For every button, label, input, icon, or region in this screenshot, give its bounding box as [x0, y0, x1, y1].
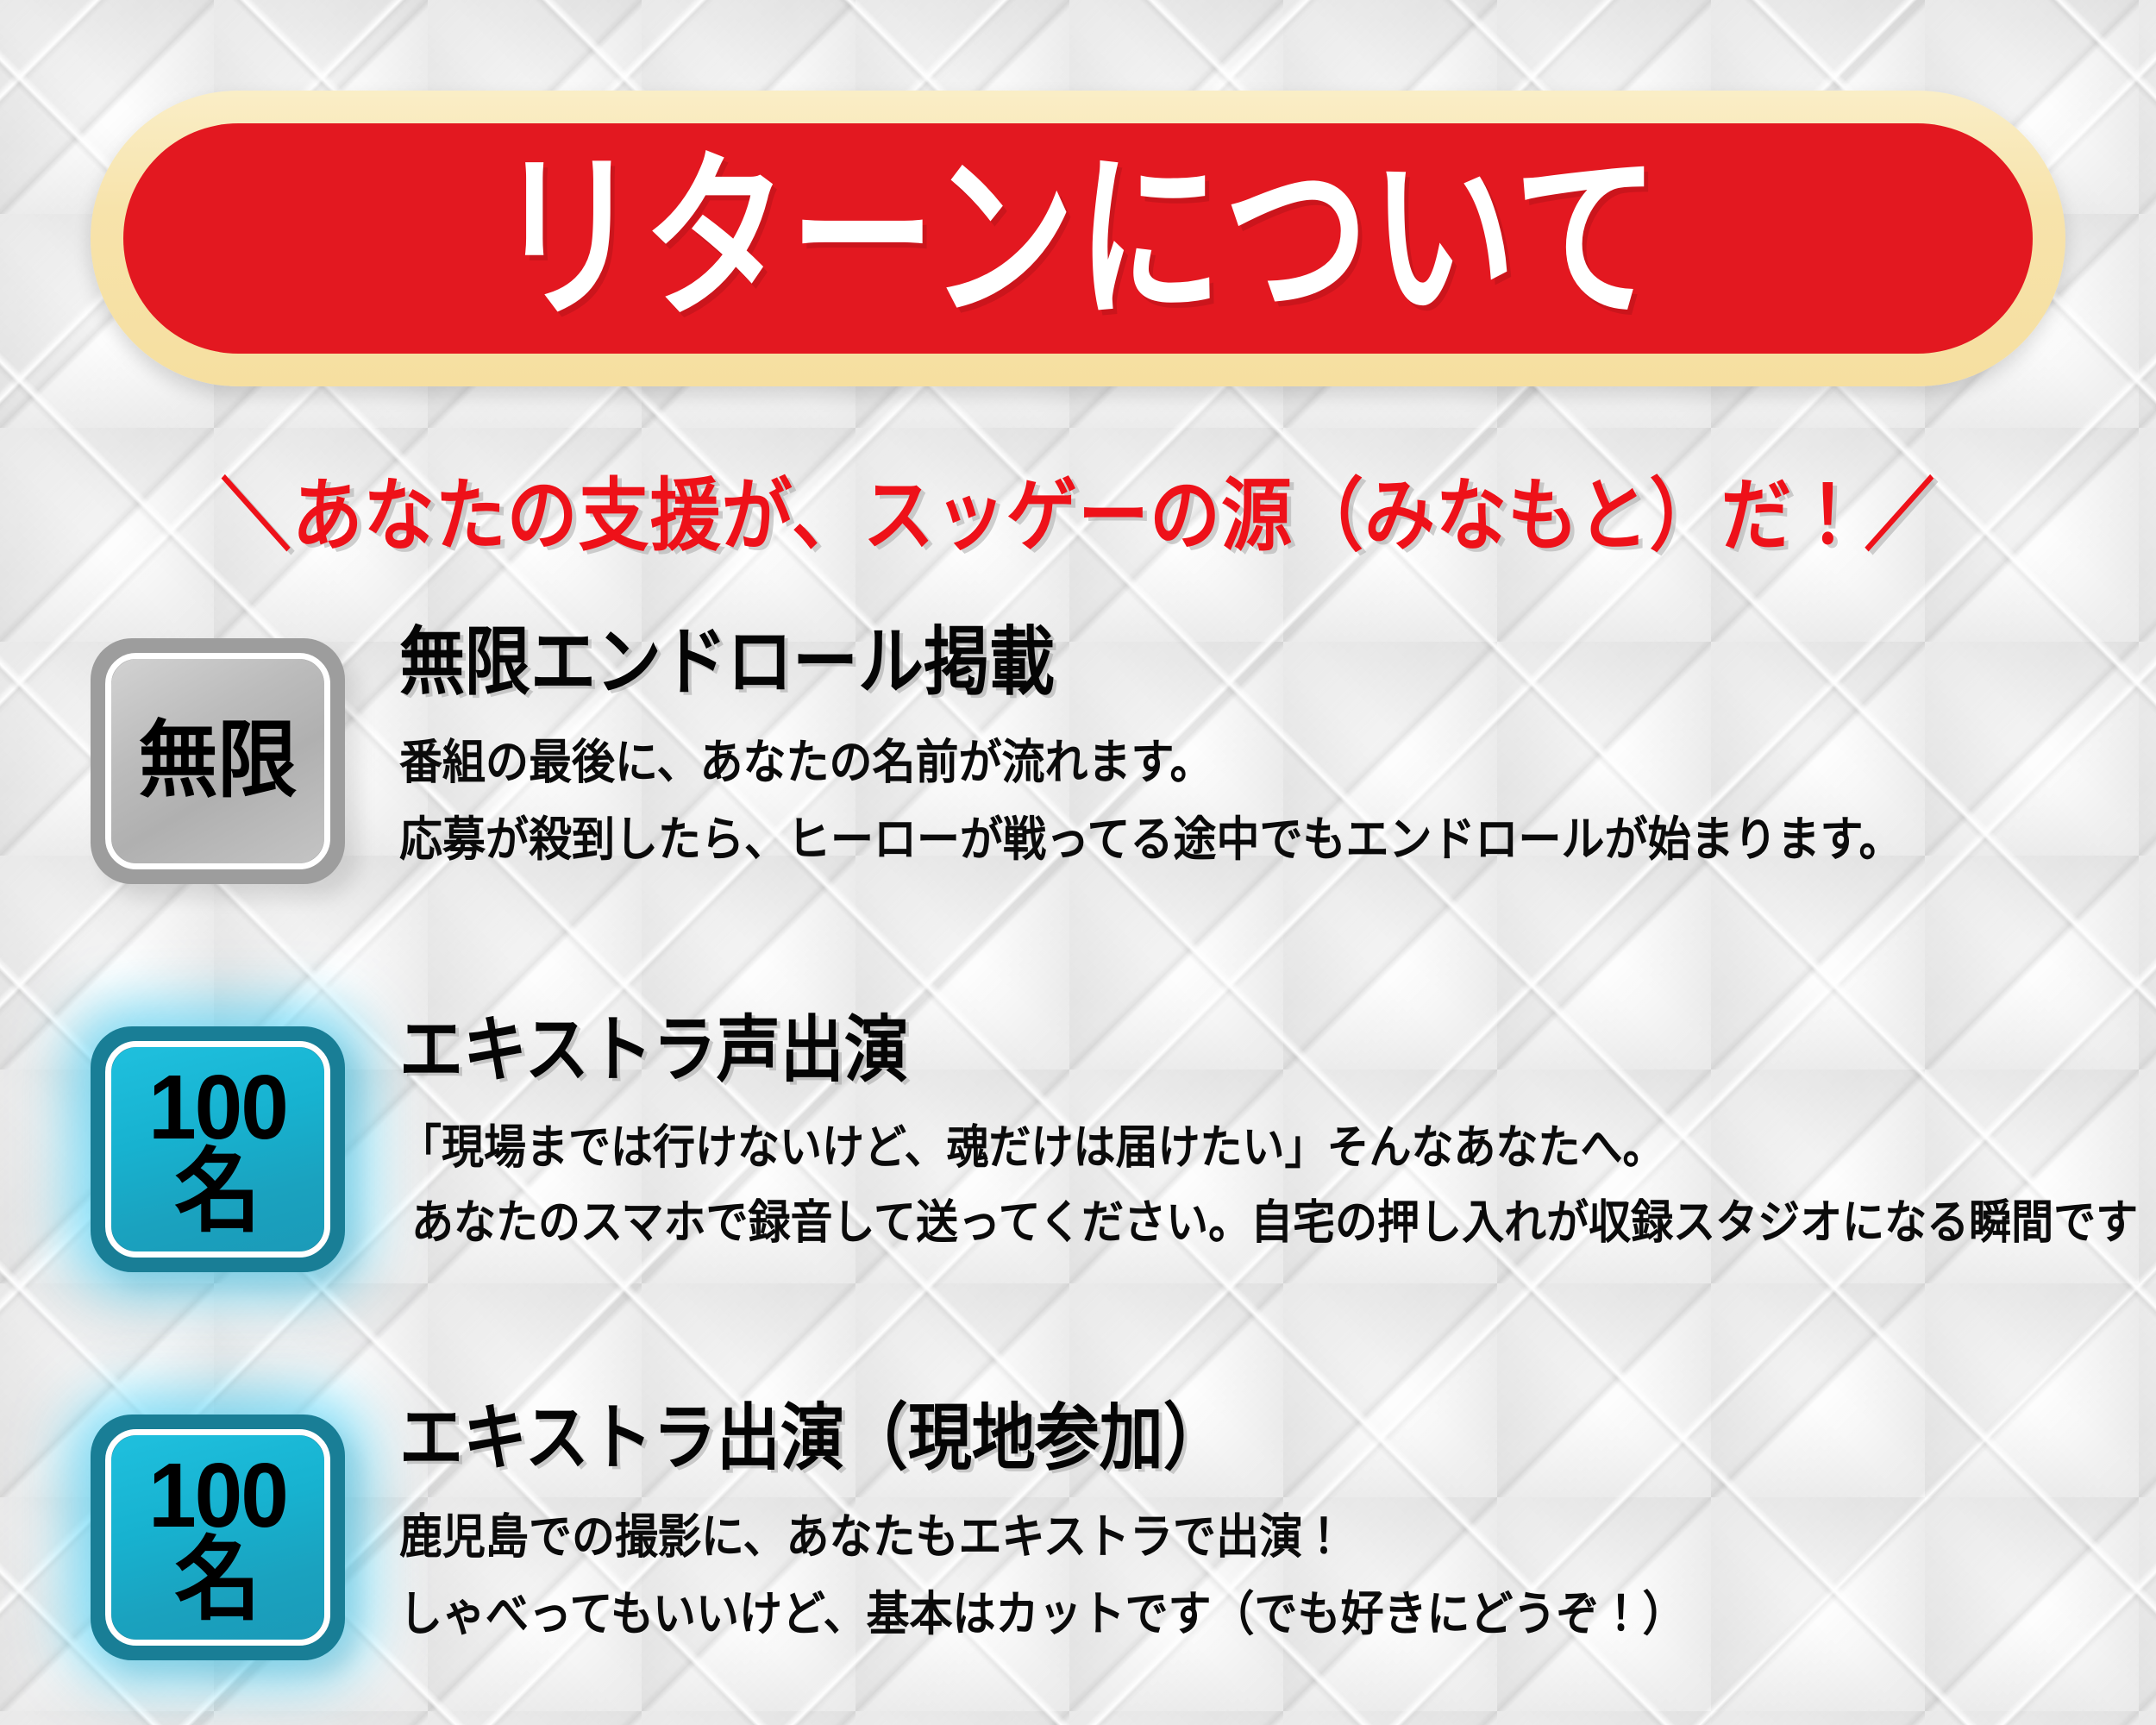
badge-label-line1: 無限 [138, 722, 297, 801]
reward-description-line: あなたのスマホで録音して送ってください。自宅の押し入れが収録スタジオになる瞬間で… [411, 1186, 2156, 1261]
page-title: リターンについて [496, 148, 1661, 329]
reward-badge-wrap: 100 名 [91, 1414, 349, 1660]
badge-label-line2: 名 [148, 1149, 287, 1235]
header-banner-inner: リターンについて [123, 123, 2033, 354]
reward-title: エキストラ出演（現地参加） [399, 1399, 2156, 1477]
reward-title: 無限エンドロール掲載 [399, 623, 2156, 704]
reward-badge-wrap: 100 名 [91, 1026, 349, 1272]
reward-body: エキストラ声出演 「現場までは行けないけど、魂だけは届けたい」そんなあなたへ。 … [399, 992, 2156, 1248]
reward-description-line: しゃべってもいいけど、基本はカットです（でも好きにどうぞ！） [399, 1576, 2156, 1653]
header-banner: リターンについて [91, 91, 2065, 386]
reward-description-line: 応募が殺到したら、ヒーローが戦ってる途中でもエンドロールが始まります。 [399, 801, 2156, 878]
badge-quantity-unlimited: 無限 [91, 638, 345, 884]
reward-description-line: 「現場までは行けないけど、魂だけは届けたい」そんなあなたへ。 [399, 1111, 2156, 1186]
reward-description: 「現場までは行けないけど、魂だけは届けたい」そんなあなたへ。 あなたのスマホで録… [399, 1111, 2156, 1262]
return-rewards-slide: リターンについて ＼あなたの支援が、スッゲーの源（みなもと）だ！／ 無限 無限エ… [0, 0, 2156, 1725]
reward-item: 無限 無限エンドロール掲載 番組の最後に、あなたの名前が流れます。 応募が殺到し… [0, 604, 2156, 992]
reward-body: 無限エンドロール掲載 番組の最後に、あなたの名前が流れます。 応募が殺到したら、… [399, 604, 2156, 864]
badge-label-line2: 名 [148, 1537, 287, 1623]
reward-badge-wrap: 無限 [91, 638, 349, 884]
badge-label: 100 名 [148, 1067, 287, 1233]
reward-title: エキストラ声出演 [399, 1011, 2156, 1089]
badge-quantity-100-onsite: 100 名 [91, 1414, 345, 1660]
badge-label: 無限 [138, 724, 297, 798]
subtitle-catchphrase: ＼あなたの支援が、スッゲーの源（みなもと）だ！／ [0, 451, 2156, 566]
reward-item: 100 名 エキストラ出演（現地参加） 鹿児島での撮影に、あなたもエキストラで出… [0, 1380, 2156, 1725]
badge-label-line1: 100 [148, 1064, 287, 1151]
reward-list: 無限 無限エンドロール掲載 番組の最後に、あなたの名前が流れます。 応募が殺到し… [0, 604, 2156, 1725]
reward-description-line: 番組の最後に、あなたの名前が流れます。 [399, 724, 2156, 801]
badge-quantity-100-voice: 100 名 [91, 1026, 345, 1272]
reward-description-line: 鹿児島での撮影に、あなたもエキストラで出演！ [399, 1499, 2156, 1576]
reward-description: 鹿児島での撮影に、あなたもエキストラで出演！ しゃべってもいいけど、基本はカット… [399, 1499, 2156, 1653]
reward-body: エキストラ出演（現地参加） 鹿児島での撮影に、あなたもエキストラで出演！ しゃべ… [399, 1380, 2156, 1639]
badge-label: 100 名 [148, 1455, 287, 1621]
reward-item: 100 名 エキストラ声出演 「現場までは行けないけど、魂だけは届けたい」そんな… [0, 992, 2156, 1380]
badge-label-line1: 100 [148, 1452, 287, 1539]
reward-description: 番組の最後に、あなたの名前が流れます。 応募が殺到したら、ヒーローが戦ってる途中… [399, 724, 2156, 878]
